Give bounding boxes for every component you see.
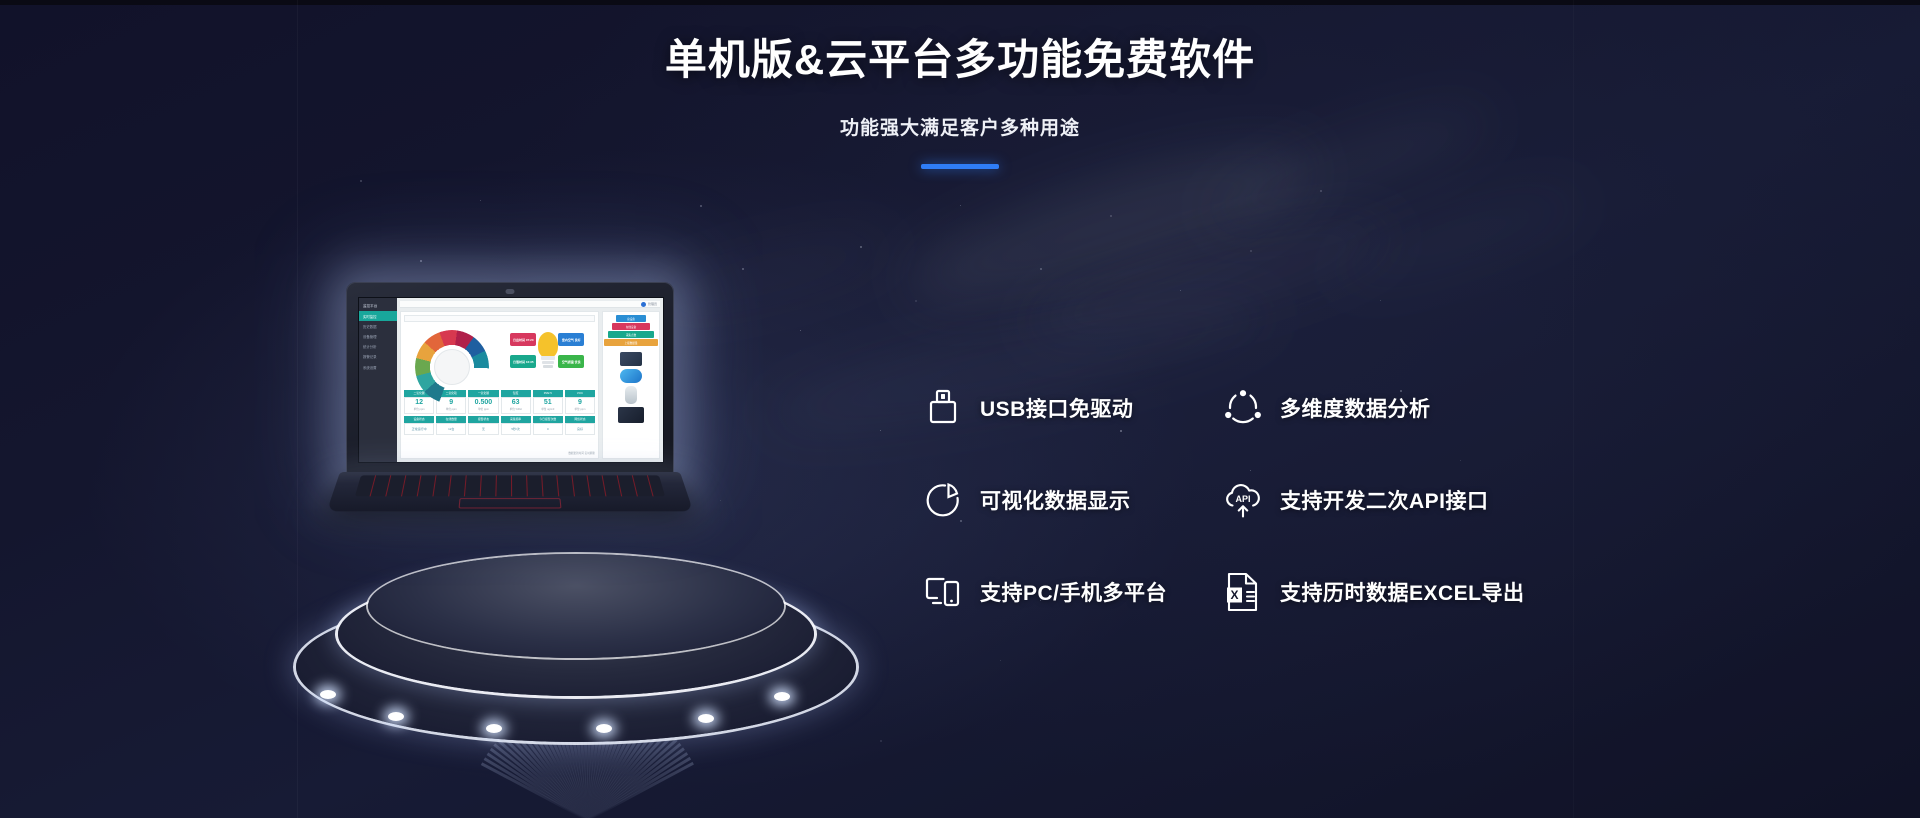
metric-value: 9 [566, 399, 594, 406]
feature-label: USB接口免驱动 [980, 393, 1133, 423]
funnel-segment: 总设备 [616, 315, 646, 322]
feature-label: 支持开发二次API接口 [1280, 485, 1489, 515]
feature-item-api[interactable]: API 支持开发二次API接口 [1220, 477, 1580, 523]
bulb-tag-0: 日出时间 07:20 [510, 333, 536, 346]
laptop-lid: 监控平台 实时监控 历史数据 设备管理 统计分析 报警记录 系统设置 管理员 [346, 282, 674, 474]
bulb-tag-1: 室内空气 良好 [558, 333, 584, 346]
page-subtitle: 功能强大满足客户多种用途 [0, 113, 1920, 140]
sidebar-item-0[interactable]: 实时监控 [359, 311, 397, 321]
metric-value: 63 [502, 399, 530, 406]
cloud-illustration [620, 369, 642, 383]
dust-speck [1040, 268, 1042, 270]
status-header: 报警状态 [468, 416, 498, 423]
sidebar-item-2[interactable]: 设备管理 [359, 331, 397, 341]
funnel-segment: 采集点数 [608, 331, 654, 338]
dust-speck [420, 260, 422, 262]
status-card: 报警状态无 [468, 416, 498, 435]
status-card: 在线数量12台 [436, 416, 466, 435]
accent-divider [921, 164, 999, 169]
feature-item-usb[interactable]: USB接口免驱动 [920, 385, 1220, 431]
feature-item-visualization[interactable]: 可视化数据显示 [920, 477, 1220, 523]
feature-list: USB接口免驱动 多维度数据分析 [920, 362, 1580, 638]
metric-card: 湿度63单位 %RH [501, 390, 531, 414]
dust-speck [860, 246, 862, 248]
sidebar-item-3[interactable]: 统计分析 [359, 342, 397, 352]
dust-speck [1250, 250, 1252, 252]
feature-item-analysis[interactable]: 多维度数据分析 [1220, 385, 1580, 431]
dust-speck [700, 205, 702, 207]
orbit-dots-icon [1220, 385, 1266, 431]
dashboard-main: 管理员 [397, 298, 663, 462]
smoke-streak [1330, 176, 1591, 298]
podium-light [698, 714, 714, 723]
devices-icon [920, 569, 966, 615]
metric-unit: 单位 %RH [502, 407, 530, 411]
dust-speck [880, 430, 881, 431]
funnel-chart: 总设备在线设备采集点数上报数据量 [606, 315, 656, 346]
laptop-screen: 监控平台 实时监控 历史数据 设备管理 统计分析 报警记录 系统设置 管理员 [358, 297, 664, 463]
webcam-icon [506, 289, 515, 294]
bulb-glass [538, 332, 558, 358]
feature-item-excel[interactable]: X 支持历时数据EXCEL导出 [1220, 569, 1580, 615]
dust-speck [1180, 290, 1181, 291]
dust-speck [800, 330, 801, 331]
sensor-illustration [625, 386, 637, 404]
usb-icon [920, 385, 966, 431]
device-illustrations [606, 352, 656, 423]
podium-light [596, 724, 612, 733]
bulb-base [543, 365, 553, 368]
status-header: 网络状态 [565, 416, 595, 423]
status-value: 良好 [565, 423, 595, 435]
tablet-illustration [618, 407, 644, 423]
status-card: 设备状态正常运行中 [404, 416, 434, 435]
status-value: 0 [533, 423, 563, 435]
sidebar-item-1[interactable]: 历史数据 [359, 321, 397, 331]
bulb-base [542, 361, 554, 364]
gauge-hub [434, 349, 470, 385]
dashboard-search-bar[interactable] [404, 315, 595, 322]
podium [296, 572, 856, 752]
feature-row: 可视化数据显示 API 支持开发二次API接口 [920, 454, 1580, 546]
dust-speck [1000, 660, 1001, 661]
server-illustration [620, 352, 642, 366]
pie-chart-icon [920, 477, 966, 523]
status-card: 采集频率5秒/次 [501, 416, 531, 435]
sidebar-item-4[interactable]: 报警记录 [359, 352, 397, 362]
excel-file-icon: X [1220, 569, 1266, 615]
podium-ring-top [368, 554, 784, 658]
status-value: 5秒/次 [501, 423, 531, 435]
sidebar-brand: 监控平台 [359, 302, 397, 311]
metric-unit: 单位 ppm [437, 407, 465, 411]
smoke-streak [1019, 202, 1402, 358]
dashboard: 监控平台 实时监控 历史数据 设备管理 统计分析 报警记录 系统设置 管理员 [359, 298, 663, 462]
dust-speck [915, 300, 917, 302]
bulb-base [541, 356, 555, 360]
status-value: 12台 [436, 423, 466, 435]
metric-body: 63单位 %RH [501, 397, 531, 414]
avatar[interactable] [641, 302, 646, 307]
metric-body: 12单位 ppm [404, 397, 434, 414]
dust-speck [480, 200, 481, 201]
touchpad [459, 498, 562, 508]
metric-card: VOC9单位 ppm [565, 390, 595, 414]
cloud-api-icon: API [1220, 477, 1266, 523]
metric-header: PM2.5 [533, 390, 563, 397]
dashboard-left-panel: 日出时间 07:20 室内空气 良好 日落时间 16:35 空气质量 优良 二氧… [400, 311, 599, 459]
metric-header: 湿度 [501, 390, 531, 397]
podium-light [486, 724, 502, 733]
svg-text:API: API [1235, 494, 1250, 504]
status-header: 采集频率 [501, 416, 531, 423]
metric-card: PM2.551单位 ug/m3 [533, 390, 563, 414]
bulb-tag-2: 日落时间 16:35 [510, 355, 536, 368]
dashboard-right-panel: 总设备在线设备采集点数上报数据量 [602, 311, 660, 459]
bulb-diagram: 日出时间 07:20 室内空气 良好 日落时间 16:35 空气质量 优良 [510, 328, 584, 384]
metric-unit: 单位 ppm [469, 407, 497, 411]
funnel-segment: 在线设备 [612, 323, 650, 330]
dashboard-topbar: 管理员 [400, 301, 660, 308]
metric-body: 0.500单位 ppm [468, 397, 498, 414]
status-card: 网络状态良好 [565, 416, 595, 435]
dust-speck [1380, 300, 1381, 301]
status-value: 正常运行中 [404, 423, 434, 435]
podium-light [774, 692, 790, 701]
status-card: 今日报警次数0 [533, 416, 563, 435]
laptop-base [327, 472, 694, 511]
gauge-chart [415, 330, 489, 382]
hero-header: 单机版&云平台多功能免费软件 功能强大满足客户多种用途 [0, 0, 1920, 169]
metric-value: 51 [534, 399, 562, 406]
podium-light [388, 712, 404, 721]
metric-header: VOC [565, 390, 595, 397]
metric-value: 12 [405, 399, 433, 406]
status-header: 今日报警次数 [533, 416, 563, 423]
dashboard-charts: 日出时间 07:20 室内空气 良好 日落时间 16:35 空气质量 优良 [404, 325, 595, 387]
feature-row: USB接口免驱动 多维度数据分析 [920, 362, 1580, 454]
laptop-device: 监控平台 实时监控 历史数据 设备管理 统计分析 报警记录 系统设置 管理员 [340, 282, 680, 532]
hero-banner: 单机版&云平台多功能免费软件 功能强大满足客户多种用途 监控平台 实时监控 历史… [0, 0, 1920, 818]
feature-item-multiplatform[interactable]: 支持PC/手机多平台 [920, 569, 1220, 615]
status-header: 在线数量 [436, 416, 466, 423]
feature-label: 支持PC/手机多平台 [980, 577, 1167, 607]
metric-body: 51单位 ug/m3 [533, 397, 563, 414]
dust-speck [960, 205, 961, 206]
dust-speck [1110, 215, 1112, 217]
metric-unit: 单位 ppm [405, 407, 433, 411]
feature-row: 支持PC/手机多平台 X 支持历时数据EXCEL导出 [920, 546, 1580, 638]
podium-light [320, 690, 336, 699]
feature-label: 可视化数据显示 [980, 485, 1131, 515]
feature-label: 支持历时数据EXCEL导出 [1280, 577, 1525, 607]
topbar-user: 管理员 [648, 302, 657, 306]
status-value: 无 [468, 423, 498, 435]
dust-speck [360, 180, 362, 182]
dust-speck [742, 268, 744, 270]
status-card-row: 设备状态正常运行中在线数量12台报警状态无采集频率5秒/次今日报警次数0网络状态… [404, 416, 595, 435]
dust-speck [720, 500, 721, 501]
dashboard-sidebar[interactable]: 监控平台 实时监控 历史数据 设备管理 统计分析 报警记录 系统设置 [359, 298, 397, 462]
dust-speck [1320, 190, 1322, 192]
status-header: 设备状态 [404, 416, 434, 423]
metric-body: 9单位 ppm [565, 397, 595, 414]
dashboard-footer: 数据更新时间 实时刷新 [404, 449, 595, 455]
metric-value: 0.500 [469, 399, 497, 406]
metric-unit: 单位 ug/m3 [534, 407, 562, 411]
funnel-segment: 上报数据量 [604, 339, 658, 346]
sidebar-item-5[interactable]: 系统设置 [359, 362, 397, 372]
svg-text:X: X [1230, 588, 1238, 602]
page-title: 单机版&云平台多功能免费软件 [0, 26, 1920, 87]
bulb-tag-3: 空气质量 优良 [558, 355, 584, 368]
keyboard [355, 475, 665, 496]
metric-unit: 单位 ppm [566, 407, 594, 411]
feature-label: 多维度数据分析 [1280, 393, 1431, 423]
